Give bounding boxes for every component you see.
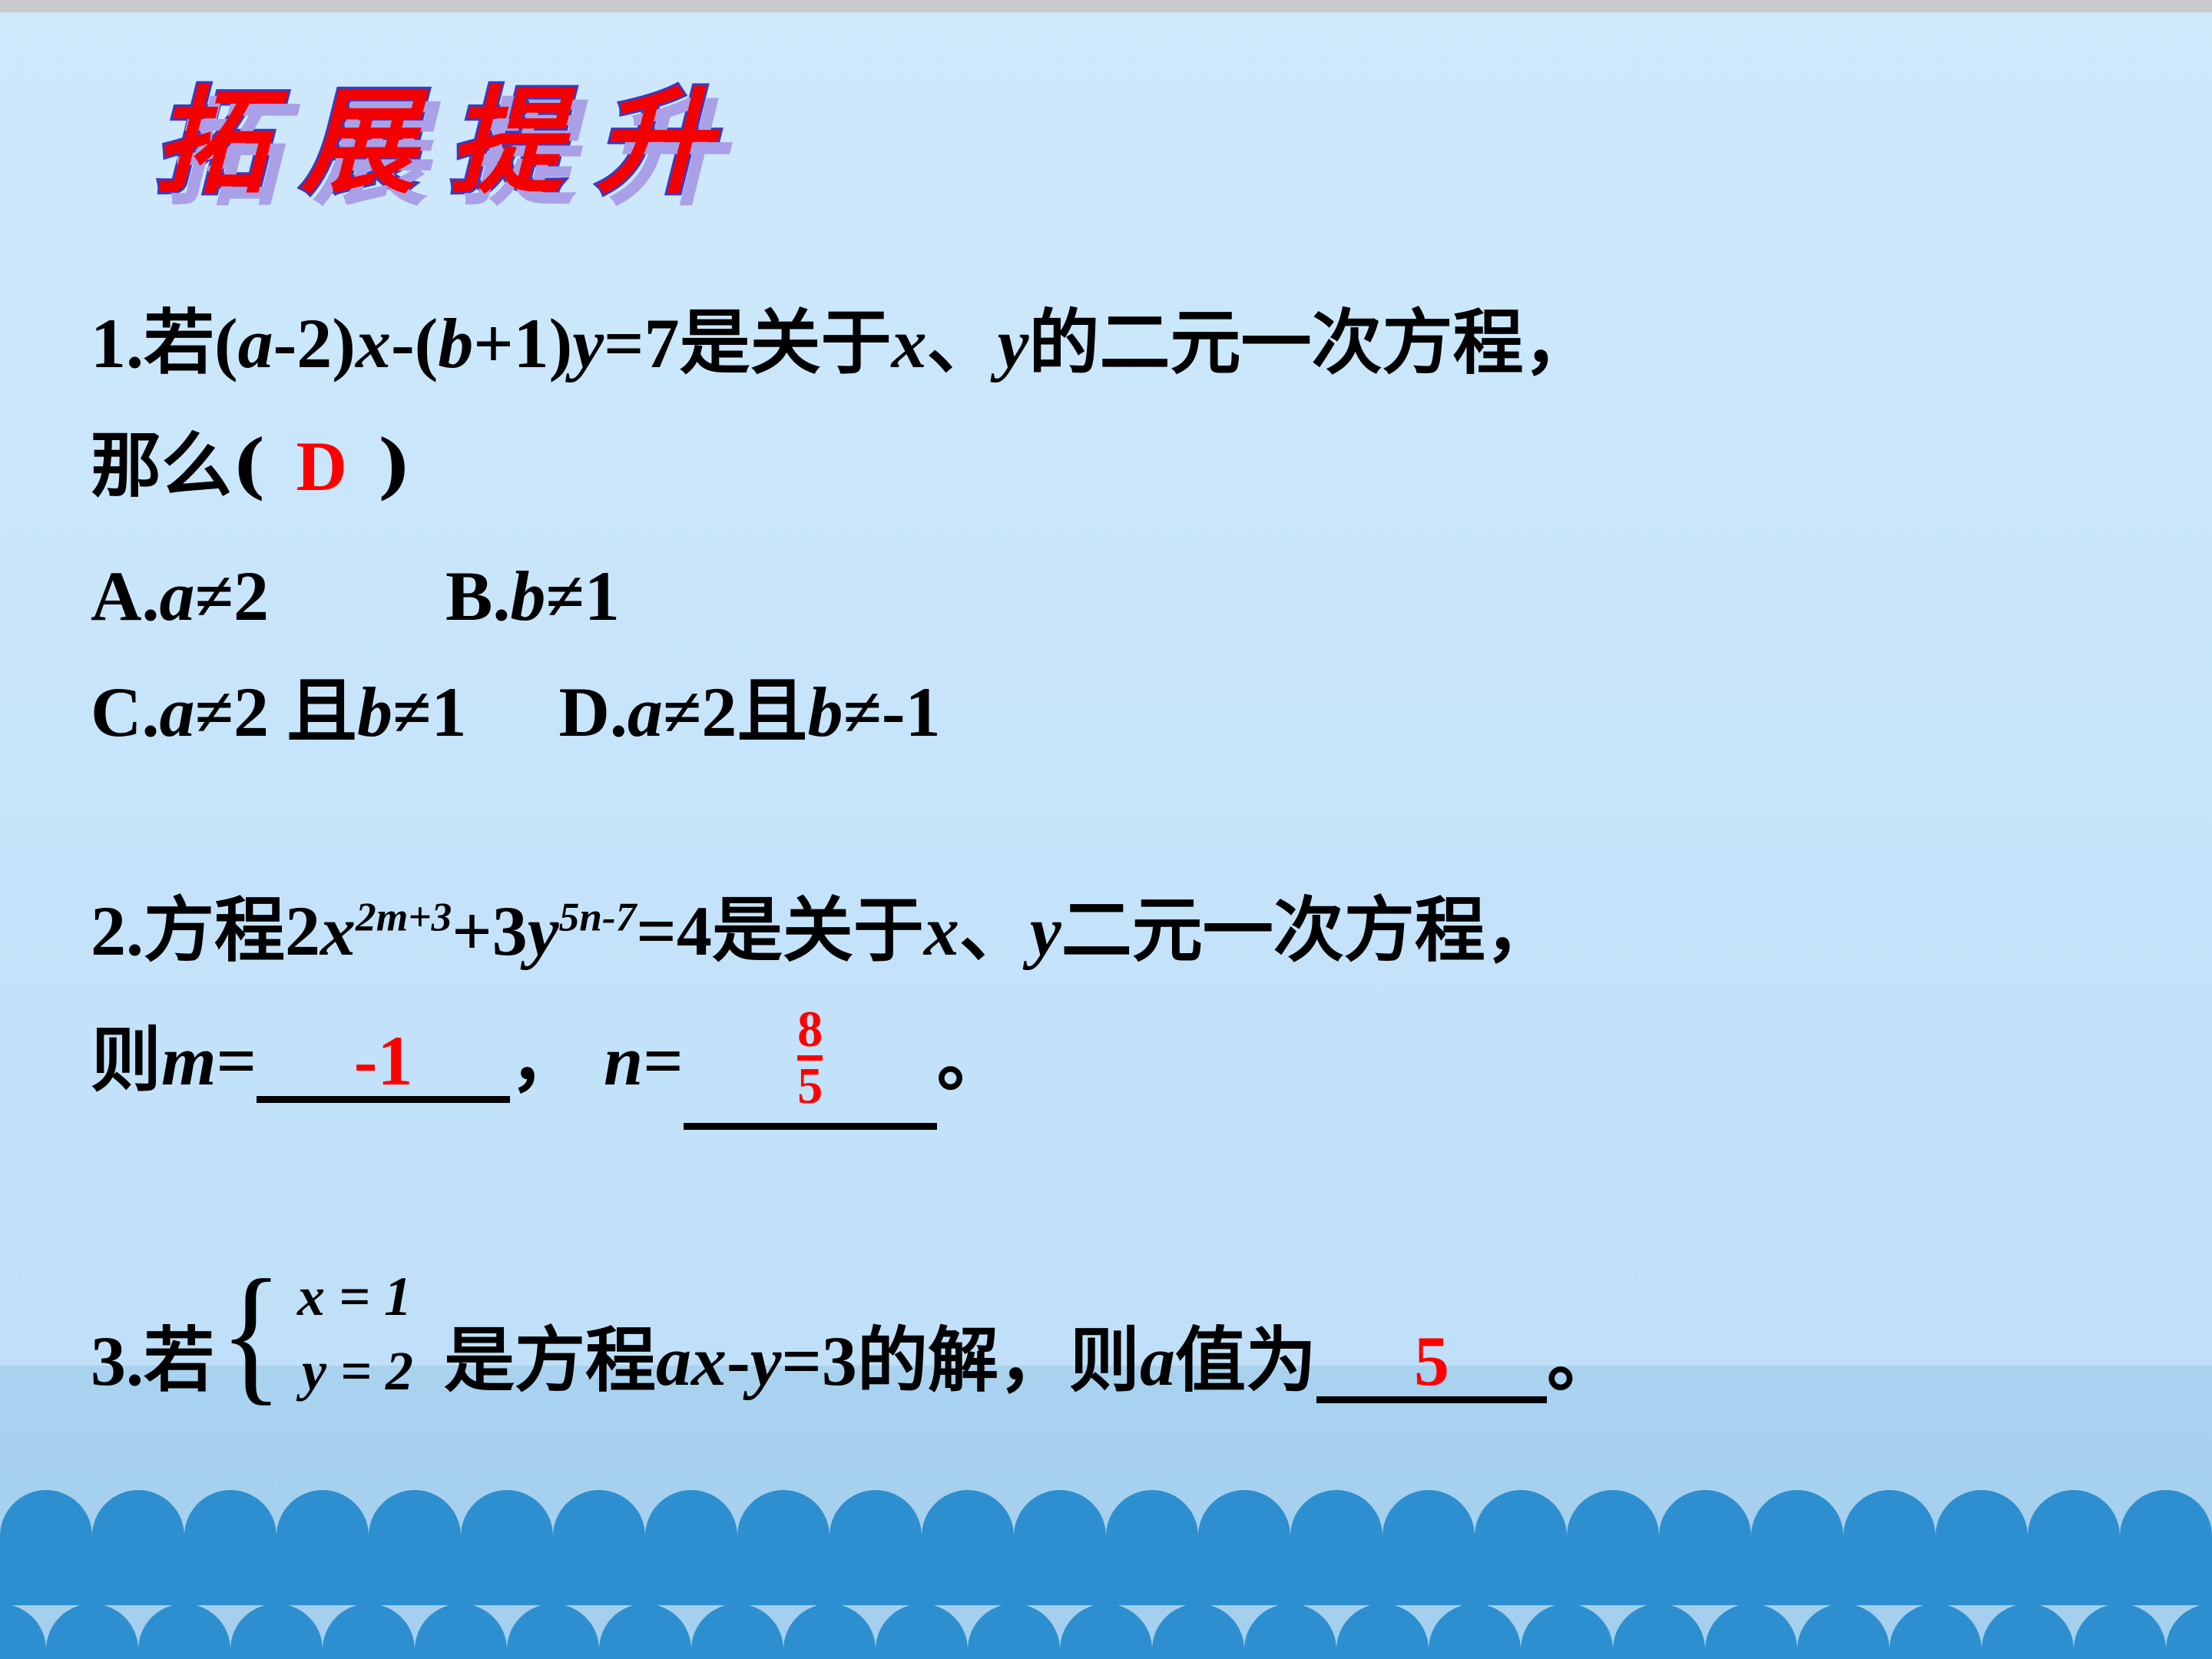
option-b-label[interactable]: B. — [445, 557, 510, 635]
q1-minus: - — [391, 304, 415, 382]
question-3-line: 3.若{x = 1y = 2是方程ax-y=3的解，则a值为5。 — [91, 1260, 1618, 1409]
q2-var-m: m — [161, 1022, 217, 1100]
q2-period: 。 — [937, 1018, 1008, 1101]
page-title: 拓展提升 — [154, 84, 743, 200]
scallop-shape — [138, 1604, 230, 1659]
option-d-var-1: a — [628, 673, 663, 751]
q2-coef-1: 2 — [285, 892, 320, 970]
option-a-label[interactable]: A. — [91, 557, 159, 635]
blank-n[interactable]: 85 — [684, 1014, 937, 1130]
scallop-shape — [1843, 1490, 1936, 1605]
scallop-shape — [507, 1604, 599, 1659]
scallop-shape — [46, 1604, 138, 1659]
left-brace-icon: { — [220, 1286, 283, 1382]
q1-tail-2: 的二元一次方程， — [1028, 301, 1594, 384]
option-c-relation-2: ≠1 — [392, 673, 467, 751]
q1-var-b: b — [438, 304, 473, 382]
question-1-options-ab: A.a≠2B.b≠1 — [91, 561, 620, 631]
q1-var-a: a — [238, 304, 273, 382]
scallop-shape — [184, 1490, 276, 1605]
scallop-shape — [783, 1604, 876, 1659]
scallop-shape — [369, 1490, 461, 1605]
q2-exponent-1: 2m+3 — [356, 893, 452, 939]
option-b-relation: ≠1 — [545, 557, 620, 635]
fraction-denominator: 5 — [797, 1055, 823, 1113]
scallop-shape — [1475, 1490, 1567, 1605]
q1-paren-close-1: ) — [332, 304, 356, 382]
option-c-conjunction: 且 — [286, 670, 357, 753]
q1-comma: 、 — [927, 301, 998, 384]
q3-equals: =3 — [782, 1322, 857, 1400]
scallop-shape — [1060, 1604, 1152, 1659]
fraction-numerator: 8 — [797, 1004, 823, 1056]
q3-var-y: y — [750, 1322, 782, 1400]
option-d-relation-2: ≠-1 — [843, 673, 940, 751]
option-b-var: b — [510, 557, 545, 635]
scallop-decoration — [0, 1490, 2212, 1659]
q1-var-x-2: x — [892, 304, 927, 382]
q3-period: 。 — [1547, 1319, 1618, 1402]
question-2-line-2: 则m=-1，n=85。 — [91, 1014, 1008, 1130]
q2-line2-comma: ， — [510, 1018, 581, 1101]
top-grey-strip — [0, 0, 2212, 12]
scallop-shape — [461, 1490, 553, 1605]
q3-var-x: x — [691, 1322, 727, 1400]
option-a-relation: ≠2 — [194, 557, 269, 635]
scallop-shape — [92, 1490, 184, 1605]
q3-mid-4: 值为 — [1175, 1319, 1316, 1402]
q1-number: 1. — [91, 304, 144, 382]
q2-var-y: y — [528, 892, 559, 970]
scallop-shape — [1106, 1490, 1198, 1605]
q3-mid-3: 则 — [1069, 1319, 1140, 1402]
q1-answer-suffix: ) — [378, 424, 412, 507]
q1-var-y-2: y — [998, 304, 1029, 382]
q1-paren-close-2: ) — [549, 304, 573, 382]
q2-then: 则 — [91, 1018, 161, 1101]
scallop-shape — [1936, 1490, 2028, 1605]
scallop-shape — [2166, 1604, 2212, 1659]
option-d-var-2: b — [807, 673, 843, 751]
scallop-shape — [968, 1604, 1060, 1659]
option-d-label[interactable]: D. — [558, 673, 627, 751]
q2-equals-n: = — [643, 1022, 683, 1100]
q3-mid-2: 的解， — [857, 1319, 1069, 1402]
system-equation-2: y = 2 — [297, 1334, 413, 1409]
q2-answer-m: -1 — [354, 1022, 413, 1100]
q2-var-n: n — [604, 1022, 643, 1100]
slide-canvas: 拓展提升 1.若(a-2)x-(b+1)y=7是关于x、y的二元一次方程， 那么… — [0, 0, 2212, 1659]
q3-answer-value: 5 — [1414, 1322, 1449, 1400]
q2-answer-n-fraction: 85 — [797, 1004, 823, 1113]
system-rows: x = 1y = 2 — [288, 1260, 413, 1409]
scallop-shape — [1382, 1490, 1475, 1605]
q1-minus-2: -2 — [273, 304, 333, 382]
system-of-equations: {x = 1y = 2 — [214, 1260, 413, 1409]
q1-paren-open-2: ( — [415, 304, 439, 382]
scallop-shape — [0, 1490, 92, 1605]
q2-comma: 、 — [959, 889, 1030, 972]
scallop-shape — [553, 1490, 645, 1605]
scallop-shape — [1152, 1604, 1244, 1659]
scallop-shape — [1613, 1604, 1705, 1659]
q2-lead: 方程 — [144, 889, 285, 972]
q1-var-x-1: x — [356, 304, 391, 382]
scallop-shape — [922, 1490, 1014, 1605]
q1-tail-1: 是关于 — [680, 301, 892, 384]
scallop-shape — [1198, 1490, 1290, 1605]
scallop-shape — [2074, 1604, 2166, 1659]
blank-m[interactable]: -1 — [257, 1025, 510, 1103]
q2-coef-2: 3 — [492, 892, 528, 970]
scallop-shape — [1290, 1490, 1382, 1605]
scallop-shape — [415, 1604, 507, 1659]
scallop-row-front — [0, 1604, 2181, 1659]
option-c-var-2: b — [357, 673, 392, 751]
question-1-options-cd: C.a≠2 且b≠1D.a≠2且b≠-1 — [91, 676, 941, 747]
scallop-shape — [1659, 1490, 1751, 1605]
scallop-shape — [2028, 1490, 2120, 1605]
q3-var-a: a — [656, 1322, 691, 1400]
option-c-var-1: a — [159, 673, 194, 751]
question-2-line-1: 2.方程2x2m+3+3y5n-7=4是关于x、y二元一次方程， — [91, 895, 1556, 966]
q1-lead: 若 — [144, 301, 214, 384]
q2-plus: + — [452, 892, 492, 970]
q1-var-y-1: y — [572, 304, 604, 382]
question-1-line-1: 1.若(a-2)x-(b+1)y=7是关于x、y的二元一次方程， — [91, 307, 1594, 379]
scallop-shape — [1751, 1490, 1843, 1605]
q3-var-a-2: a — [1140, 1322, 1175, 1400]
scallop-shape — [276, 1490, 369, 1605]
scallop-row-back — [0, 1490, 2212, 1605]
scallop-shape — [1797, 1604, 1889, 1659]
q2-var-x: x — [320, 892, 356, 970]
scallop-shape — [1336, 1604, 1429, 1659]
scallop-shape — [1244, 1604, 1336, 1659]
option-c-relation-1: ≠2 — [194, 673, 286, 751]
q3-lead: 若 — [144, 1319, 214, 1402]
q3-number: 3. — [91, 1322, 144, 1400]
scallop-shape — [829, 1490, 922, 1605]
q2-var-y-2: y — [1030, 892, 1061, 970]
blank-a[interactable]: 5 — [1316, 1326, 1547, 1403]
scallop-shape — [737, 1490, 829, 1605]
scallop-shape — [645, 1490, 737, 1605]
option-d-conjunction: 且 — [737, 670, 807, 753]
scallop-shape — [1429, 1604, 1521, 1659]
scallop-shape — [876, 1604, 968, 1659]
scallop-shape — [2120, 1490, 2212, 1605]
scallop-shape — [599, 1604, 691, 1659]
option-d-relation-1: ≠2 — [663, 673, 737, 751]
q2-tail-1: 是关于 — [712, 889, 924, 972]
scallop-shape — [691, 1604, 783, 1659]
q1-plus-1: +1 — [473, 304, 548, 382]
q2-tail-2: 二元一次方程， — [1061, 889, 1556, 972]
q3-minus: - — [727, 1322, 750, 1400]
q2-number: 2. — [91, 892, 144, 970]
q3-mid-1: 是方程 — [444, 1319, 656, 1402]
q1-paren-open: ( — [214, 304, 238, 382]
q1-answer-prefix: 那么( — [91, 424, 266, 507]
scallop-shape — [0, 1604, 46, 1659]
q2-var-x-2: x — [924, 892, 959, 970]
scallop-shape — [230, 1604, 323, 1659]
scallop-shape — [1982, 1604, 2074, 1659]
scallop-shape — [1014, 1490, 1106, 1605]
q1-answer-value: D — [296, 427, 347, 505]
scallop-shape — [1521, 1604, 1613, 1659]
q2-equals: =4 — [636, 892, 711, 970]
option-c-label[interactable]: C. — [91, 673, 159, 751]
q2-equals-m: = — [217, 1022, 257, 1100]
option-a-var: a — [159, 557, 194, 635]
system-equation-1: x = 1 — [297, 1260, 413, 1334]
question-1-line-2: 那么(D) — [91, 430, 412, 502]
scallop-shape — [323, 1604, 415, 1659]
q2-exponent-2: 5n-7 — [559, 893, 637, 939]
q1-equals-7: =7 — [604, 304, 679, 382]
scallop-shape — [1889, 1604, 1982, 1659]
scallop-shape — [1705, 1604, 1797, 1659]
scallop-shape — [1567, 1490, 1659, 1605]
